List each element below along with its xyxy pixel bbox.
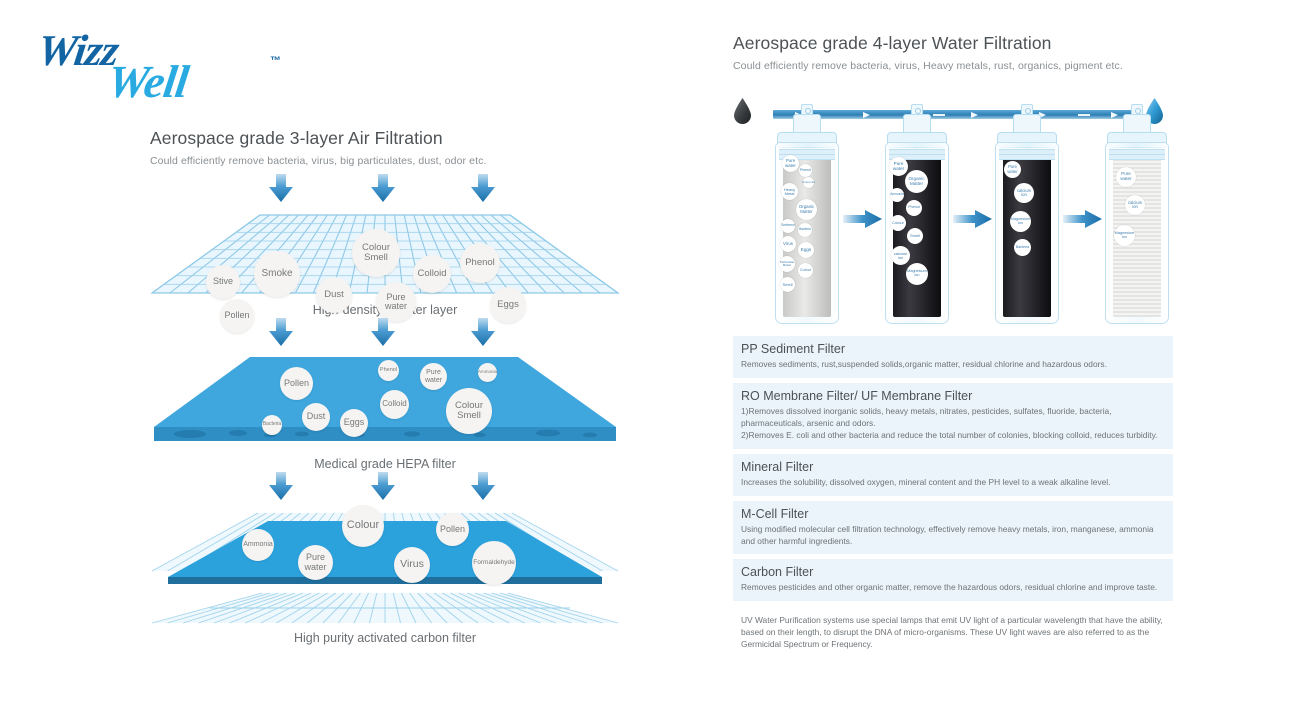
cartridge-ring — [999, 154, 1055, 160]
contaminant-bubble: Colloid — [380, 390, 409, 419]
contaminant-bubble: Pure water — [420, 363, 447, 390]
cartridge-housing: Pure waterOrganic MatterAmmoniaPhenolCol… — [885, 142, 949, 324]
contaminant-bubble: Phenol — [378, 360, 399, 381]
air-section-title: Aerospace grade 3-layer Air Filtration — [150, 128, 630, 149]
down-arrow-icon — [470, 471, 496, 501]
filter-spec-title: RO Membrane Filter/ UF Membrane Filter — [741, 389, 1165, 403]
water-substance-bubble: Sediment — [781, 219, 795, 233]
filter-slab-mesh: StivePollenSmokeDustColour SmellPure wat… — [150, 209, 620, 299]
filter-spec-body: Removes sediments, rust,suspended solids… — [741, 359, 1165, 371]
filter-spec-title: PP Sediment Filter — [741, 342, 1165, 356]
cartridge-2-carbon: Pure waterOrganic MatterAmmoniaPhenolCol… — [883, 124, 949, 322]
water-substance-bubble: Pure water — [782, 155, 799, 172]
water-substance-bubble: Colour — [890, 215, 906, 231]
pipe-flow-arrow-icon — [863, 112, 870, 118]
air-section-subtitle: Could efficiently remove bacteria, virus… — [150, 155, 630, 167]
filter-spec-body: Removes pesticides and other organic mat… — [741, 582, 1165, 594]
air-layer-list: StivePollenSmokeDustColour SmellPure wat… — [150, 173, 630, 645]
contaminant-bubble: Ammonia — [478, 363, 497, 382]
contaminant-bubble: Colour Smell — [446, 388, 492, 434]
water-substance-bubble: calcium ion — [891, 246, 910, 265]
contaminant-bubble: Ammonia — [242, 529, 274, 561]
contaminant-bubble: Colloid — [413, 255, 451, 293]
filter-spec-item: Carbon FilterRemoves pesticides and othe… — [733, 559, 1173, 601]
filter-slab-carbon: AmmoniaPure waterColourVirusPollenFormal… — [150, 507, 620, 627]
filter-spec-body: Increases the solubility, dissolved oxyg… — [741, 477, 1165, 489]
down-arrow-icon — [470, 173, 496, 203]
pipe-flow-arrow-icon — [1111, 112, 1118, 118]
contaminant-bubble: Pollen — [436, 513, 469, 546]
contaminant-bubble: Colour Smell — [352, 229, 400, 277]
pipe-flow-arrow-icon — [971, 112, 978, 118]
water-substance-bubble: Magnesium ion — [1114, 225, 1135, 246]
water-substance-bubble: Pure water — [889, 157, 908, 176]
cartridge-housing: Pure watercalcium ionMagnesium ion — [1105, 142, 1169, 324]
dirty-water-drop-icon — [733, 98, 752, 124]
logo-text-wizz: Wizz — [34, 25, 121, 76]
contaminant-bubble: Smoke — [254, 251, 300, 297]
air-layer-caption: Medical grade HEPA filter — [150, 457, 620, 471]
water-substance-bubble: calcium ion — [1014, 183, 1034, 203]
down-arrow-icon — [268, 317, 294, 347]
logo-text-well: Well — [104, 55, 191, 108]
water-substance-bubble: Magnesium ion — [906, 263, 928, 285]
pipe-flow-dash — [1078, 114, 1090, 116]
stage-flow-arrow-icon — [843, 208, 883, 230]
water-substance-bubble: Pure water — [1004, 161, 1021, 178]
contaminant-bubble: Virus — [394, 547, 430, 583]
pipe-flow-dash — [933, 114, 945, 116]
water-substance-bubble: Eggs — [798, 242, 814, 258]
water-substance-bubble: Ammonia — [803, 177, 814, 188]
water-section-title: Aerospace grade 4-layer Water Filtration — [733, 33, 1173, 54]
down-arrow-icon — [268, 471, 294, 501]
air-flow-arrows-2 — [150, 317, 620, 353]
filter-spec-body: UV Water Purification systems use specia… — [741, 615, 1165, 651]
contaminant-bubble: Dust — [302, 403, 330, 431]
filter-spec-list: PP Sediment FilterRemoves sediments, rus… — [733, 336, 1173, 663]
contaminant-bubble: Bacteria — [262, 415, 282, 435]
contaminant-bubble: Pollen — [280, 367, 313, 400]
pipe-flow-dash — [761, 114, 773, 116]
cartridge-4-mcell: Pure watercalcium ionMagnesium ion — [1103, 124, 1169, 322]
water-section-subtitle: Could efficiently remove bacteria, virus… — [733, 60, 1173, 72]
contaminant-bubble: Eggs — [340, 409, 368, 437]
filter-spec-body: Using modified molecular cell filtration… — [741, 524, 1165, 548]
water-substance-bubble: Bacteria — [1014, 239, 1031, 256]
filter-spec-item: PP Sediment FilterRemoves sediments, rus… — [733, 336, 1173, 378]
infographic-page: Wizz Well ™ Aerospace grade 3-layer Air … — [0, 0, 1300, 715]
water-substance-bubble: calcium ion — [1125, 195, 1145, 215]
cartridge-1-sediment: Pure waterPhenolAmmoniaHeavy MetalOrgani… — [773, 124, 839, 322]
cartridge-3-mineral: Pure watercalcium ionMagnesium ionBacter… — [993, 124, 1059, 322]
water-substance-bubble: Smell — [780, 277, 795, 292]
water-substance-bubble: Organic Matter — [796, 199, 817, 220]
water-substance-bubble: Particulate Matter — [779, 256, 795, 272]
cartridge-housing: Pure watercalcium ionMagnesium ionBacter… — [995, 142, 1059, 324]
down-arrow-icon — [268, 173, 294, 203]
contaminant-bubble: Stive — [206, 265, 240, 299]
down-arrow-icon — [370, 471, 396, 501]
cartridge-diagram: Pure waterPhenolAmmoniaHeavy MetalOrgani… — [733, 86, 1173, 326]
water-substance-bubble: Colour — [798, 263, 813, 278]
water-substance-bubble: Phenol — [799, 164, 812, 177]
air-layer-3: AmmoniaPure waterColourVirusPollenFormal… — [150, 471, 620, 645]
filter-spec-body: 1)Removes dissolved inorganic solids, he… — [741, 406, 1165, 442]
contaminant-bubble: Phenol — [460, 243, 500, 283]
stage-flow-arrow-icon — [1063, 208, 1103, 230]
air-flow-arrows-1 — [150, 173, 620, 209]
down-arrow-icon — [370, 173, 396, 203]
air-heading-block: Aerospace grade 3-layer Air Filtration C… — [150, 128, 630, 167]
water-substance-bubble: Phenol — [906, 200, 922, 216]
filter-spec-title: Mineral Filter — [741, 460, 1165, 474]
air-layer-1: StivePollenSmokeDustColour SmellPure wat… — [150, 173, 620, 317]
filter-spec-item: RO Membrane Filter/ UF Membrane Filter1)… — [733, 383, 1173, 449]
water-filtration-panel: Aerospace grade 4-layer Water Filtration… — [733, 33, 1173, 326]
air-filtration-panel: Aerospace grade 3-layer Air Filtration C… — [150, 128, 630, 645]
water-substance-bubble: Ammonia — [890, 188, 904, 202]
contaminant-bubble: Formaldehyde — [472, 541, 516, 585]
contaminant-bubble: Pure water — [298, 545, 333, 580]
water-substance-bubble: Heavy Metal — [781, 183, 798, 200]
filter-spec-item: M-Cell FilterUsing modified molecular ce… — [733, 501, 1173, 555]
water-substance-bubble: Smell — [907, 228, 923, 244]
air-flow-arrows-3 — [150, 471, 620, 507]
cartridge-ring — [1109, 154, 1165, 160]
air-layer-caption: High purity activated carbon filter — [150, 631, 620, 645]
contaminant-bubble: Pure water — [376, 282, 416, 322]
filter-spec-title: Carbon Filter — [741, 565, 1165, 579]
stage-flow-arrow-icon — [953, 208, 993, 230]
filter-slab-solid: BacteriaPollenDustEggsPhenolColloidPure … — [150, 353, 620, 453]
contaminant-bubble: Dust — [316, 277, 352, 313]
water-substance-bubble: Pure water — [1116, 167, 1136, 187]
water-substance-bubble: Virus — [780, 236, 796, 252]
filter-spec-item: Mineral FilterIncreases the solubility, … — [733, 454, 1173, 496]
air-layer-2: BacteriaPollenDustEggsPhenolColloidPure … — [150, 317, 620, 471]
filter-spec-title: M-Cell Filter — [741, 507, 1165, 521]
water-substance-bubble: Bacteria — [798, 223, 812, 237]
filter-spec-item: UV Water Purification systems use specia… — [733, 606, 1173, 658]
trademark-symbol: ™ — [270, 55, 281, 67]
cartridge-housing: Pure waterPhenolAmmoniaHeavy MetalOrgani… — [775, 142, 839, 324]
brand-logo: Wizz Well ™ — [38, 25, 298, 95]
down-arrow-icon — [470, 317, 496, 347]
contaminant-bubble: Colour — [342, 505, 384, 547]
down-arrow-icon — [370, 317, 396, 347]
water-substance-bubble: Magnesium ion — [1010, 211, 1031, 232]
water-substance-bubble: Organic Matter — [905, 170, 928, 193]
